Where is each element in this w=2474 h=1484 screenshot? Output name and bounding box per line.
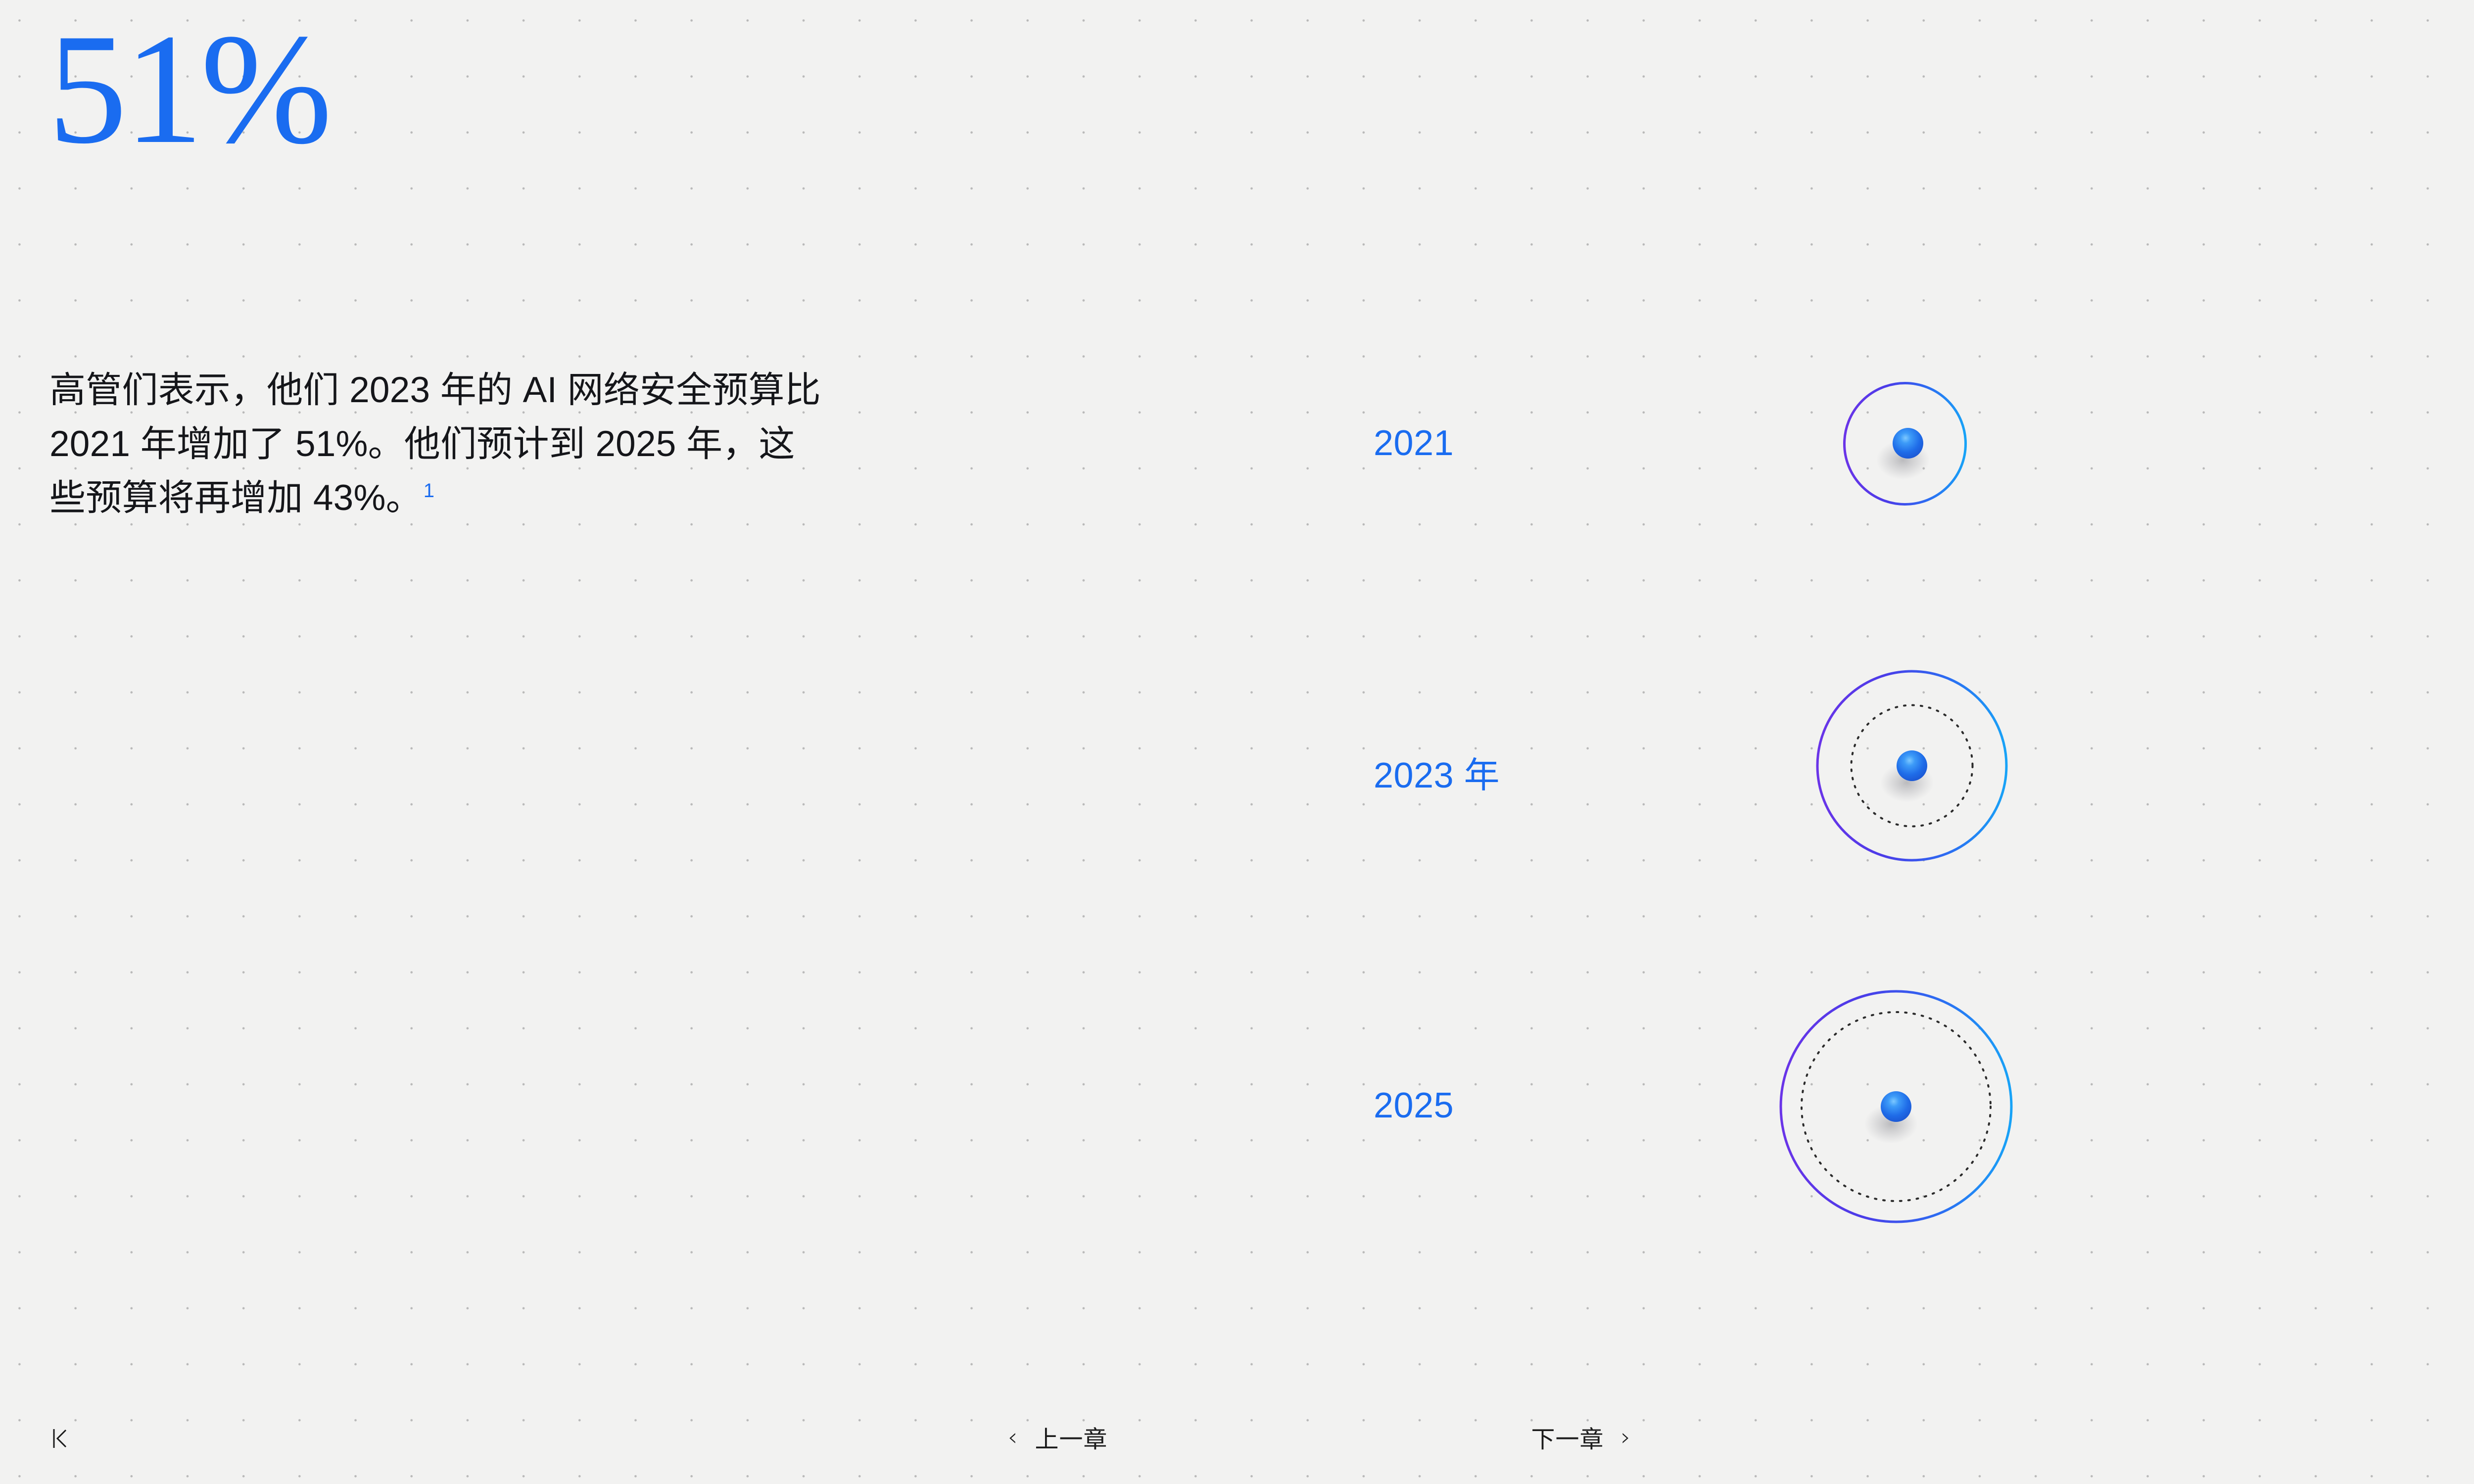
page-title: 51% xyxy=(48,10,330,168)
presentation-slide: 51% 高管们表示，他们 2023 年的 AI 网络安全预算比 2021 年增加… xyxy=(0,0,2474,1484)
next-chapter-button[interactable]: 下一章 › xyxy=(1531,1420,1631,1454)
bubble-group-2023 xyxy=(1494,671,2006,860)
bubble-dot-2025 xyxy=(1881,1091,1911,1122)
body-paragraph: 高管们表示，他们 2023 年的 AI 网络安全预算比 2021 年增加了 51… xyxy=(49,364,821,525)
first-page-icon xyxy=(52,1428,69,1449)
go-to-first-button[interactable] xyxy=(52,1428,69,1449)
chapter-navigation: ‹ 上一章 下一章 › xyxy=(1008,1420,1631,1454)
bubble-chart: 2021 2023 年 2025 xyxy=(1286,297,2276,1336)
left-content-column: 51% 高管们表示，他们 2023 年的 AI 网络安全预算比 2021 年增加… xyxy=(48,0,889,1484)
bubble-label-2025: 2025 xyxy=(1374,1085,1454,1126)
chevron-left-icon: ‹ xyxy=(1008,1425,1018,1449)
slide-footer: ‹ 上一章 下一章 › 8 xyxy=(0,1400,2474,1484)
bubble-group-2025 xyxy=(1494,991,2011,1222)
bubble-group-2021 xyxy=(1494,383,1966,505)
bubble-label-2023: 2023 年 xyxy=(1374,746,1500,798)
bubble-dot-2021 xyxy=(1893,428,1923,459)
footnote-marker[interactable]: 1 xyxy=(424,480,434,502)
prev-chapter-button[interactable]: ‹ 上一章 xyxy=(1008,1420,1108,1454)
bubble-dot-2023 xyxy=(1897,750,1927,781)
prev-chapter-label: 上一章 xyxy=(1035,1420,1108,1454)
bubble-label-2021: 2021 xyxy=(1374,423,1454,464)
body-paragraph-text: 高管们表示，他们 2023 年的 AI 网络安全预算比 2021 年增加了 51… xyxy=(49,370,821,518)
next-chapter-label: 下一章 xyxy=(1531,1420,1604,1454)
chevron-right-icon: › xyxy=(1621,1425,1631,1449)
